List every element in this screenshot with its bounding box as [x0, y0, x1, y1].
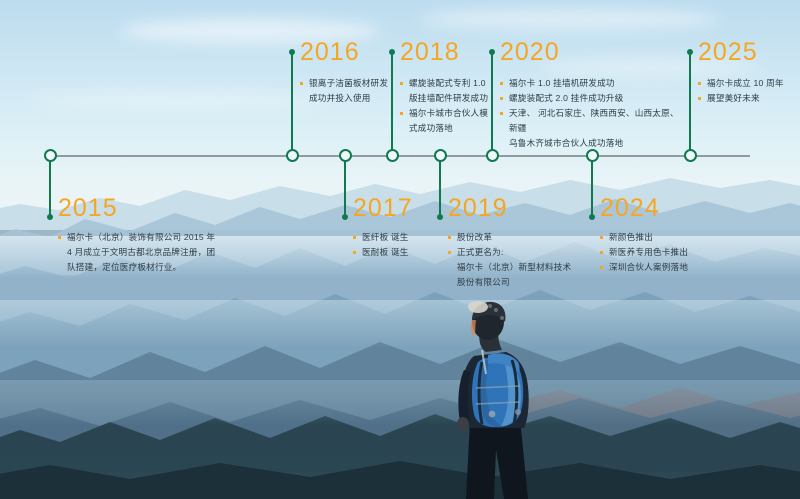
list-item: 福尔卡城市合伙人模 — [400, 106, 498, 121]
year-label-2019: 2019 — [448, 196, 576, 221]
node-ring[interactable] — [434, 149, 447, 162]
list-item: 银离子洁菌板材研发 — [300, 76, 396, 91]
timeline-entry-2025[interactable]: 2025 福尔卡成立 10 周年 展望美好未来 — [698, 40, 798, 106]
cloud-wisp — [30, 92, 330, 108]
entry-items-2025: 福尔卡成立 10 周年 展望美好未来 — [698, 76, 798, 106]
list-item: 深圳合伙人案例落地 — [600, 260, 730, 275]
node-stem — [49, 160, 51, 218]
node-end-dot — [342, 214, 348, 220]
year-label-2024: 2024 — [600, 196, 730, 221]
list-item: 医耐板 诞生 — [353, 245, 449, 260]
node-stem — [591, 160, 593, 218]
node-ring[interactable] — [486, 149, 499, 162]
list-item: 股份改革 — [448, 230, 576, 245]
entry-items-2018: 螺旋装配式专利 1.0 版挂墙配件研发成功 福尔卡城市合伙人模 式成功落地 — [400, 76, 498, 136]
year-label-2015: 2015 — [58, 196, 238, 221]
list-item: 福尔卡成立 10 周年 — [698, 76, 798, 91]
list-item: 螺旋装配式 2.0 挂件成功升级 — [500, 91, 680, 106]
list-item: 新颜色推出 — [600, 230, 730, 245]
list-item: 式成功落地 — [400, 121, 498, 136]
year-label-2018: 2018 — [400, 40, 498, 65]
list-item: 福尔卡 1.0 挂墙机研发成功 — [500, 76, 680, 91]
list-item: 队搭建，定位医疗板材行业。 — [58, 260, 238, 275]
node-stem — [689, 52, 691, 152]
timeline-entry-2019[interactable]: 2019 股份改革 正式更名为: 福尔卡（北京）新型材料技术 股份有限公司 — [448, 196, 576, 290]
timeline-entry-2024[interactable]: 2024 新颜色推出 新医养专用色卡推出 深圳合伙人案例落地 — [600, 196, 730, 275]
node-end-dot — [47, 214, 53, 220]
timeline-entry-2017[interactable]: 2017 医纤板 诞生 医耐板 诞生 — [353, 196, 449, 260]
timeline-entry-2018[interactable]: 2018 螺旋装配式专利 1.0 版挂墙配件研发成功 福尔卡城市合伙人模 式成功… — [400, 40, 498, 136]
hiker-figure — [408, 300, 588, 499]
year-label-2020: 2020 — [500, 40, 680, 65]
cloud-wisp — [420, 8, 720, 30]
node-stem — [344, 160, 346, 218]
timeline-entry-2015[interactable]: 2015 福尔卡（北京）装饰有限公司 2015 年 4 月成立于文明古都北京品牌… — [58, 196, 238, 275]
node-ring[interactable] — [339, 149, 352, 162]
node-ring[interactable] — [386, 149, 399, 162]
list-item: 医纤板 诞生 — [353, 230, 449, 245]
list-item: 4 月成立于文明古都北京品牌注册，团 — [58, 245, 238, 260]
year-label-2016: 2016 — [300, 40, 396, 65]
timeline-entry-2016[interactable]: 2016 银离子洁菌板材研发 成功并投入使用 — [300, 40, 396, 106]
timeline-axis — [50, 155, 750, 157]
node-stem — [291, 52, 293, 152]
node-end-dot — [687, 49, 693, 55]
entry-items-2019: 股份改革 正式更名为: 福尔卡（北京）新型材料技术 股份有限公司 — [448, 230, 576, 290]
list-item: 福尔卡（北京）装饰有限公司 2015 年 — [58, 230, 238, 245]
timeline-entry-2020[interactable]: 2020 福尔卡 1.0 挂墙机研发成功 螺旋装配式 2.0 挂件成功升级 天津… — [500, 40, 680, 151]
list-item: 天津、 河北石家庄、陕西西安、山西太原、新疆 — [500, 106, 680, 136]
node-end-dot — [589, 214, 595, 220]
list-item: 螺旋装配式专利 1.0 — [400, 76, 498, 91]
list-item: 展望美好未来 — [698, 91, 798, 106]
year-label-2025: 2025 — [698, 40, 798, 65]
entry-items-2017: 医纤板 诞生 医耐板 诞生 — [353, 230, 449, 260]
list-item: 成功并投入使用 — [300, 91, 396, 106]
list-item: 福尔卡（北京）新型材料技术 — [448, 260, 576, 275]
year-label-2017: 2017 — [353, 196, 449, 221]
node-ring[interactable] — [286, 149, 299, 162]
node-ring[interactable] — [44, 149, 57, 162]
entry-items-2016: 银离子洁菌板材研发 成功并投入使用 — [300, 76, 396, 106]
node-ring[interactable] — [684, 149, 697, 162]
ridge-layer-base — [0, 455, 800, 499]
list-item: 版挂墙配件研发成功 — [400, 91, 498, 106]
list-item: 股份有限公司 — [448, 275, 576, 290]
entry-items-2015: 福尔卡（北京）装饰有限公司 2015 年 4 月成立于文明古都北京品牌注册，团 … — [58, 230, 238, 275]
entry-items-2020: 福尔卡 1.0 挂墙机研发成功 螺旋装配式 2.0 挂件成功升级 天津、 河北石… — [500, 76, 680, 151]
list-item: 正式更名为: — [448, 245, 576, 260]
list-item: 新医养专用色卡推出 — [600, 245, 730, 260]
list-item: 乌鲁木齐城市合伙人成功落地 — [500, 136, 680, 151]
node-end-dot — [289, 49, 295, 55]
entry-items-2024: 新颜色推出 新医养专用色卡推出 深圳合伙人案例落地 — [600, 230, 730, 275]
timeline-infographic: 2015 福尔卡（北京）装饰有限公司 2015 年 4 月成立于文明古都北京品牌… — [0, 0, 800, 499]
